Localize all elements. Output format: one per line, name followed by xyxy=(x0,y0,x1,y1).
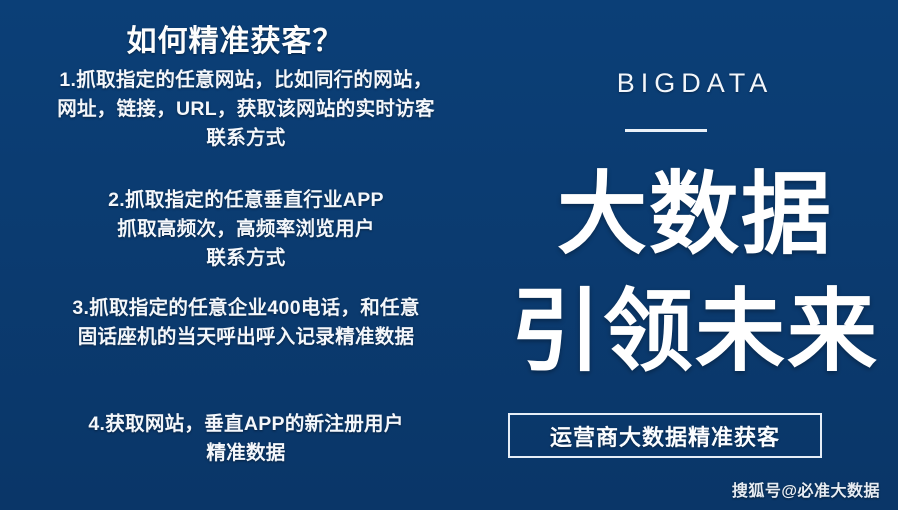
bullet-1-line-2: 网址，链接，URL，获取该网站的实时访客 xyxy=(0,95,492,124)
tagline-label: 运营商大数据精准获客 xyxy=(550,420,780,452)
horizontal-rule-icon xyxy=(625,129,707,132)
left-content-panel: 如何精准获客？ 1.抓取指定的任意网站，比如同行的网站， 网址，链接，URL，获… xyxy=(0,0,492,510)
tagline-box: 运营商大数据精准获客 xyxy=(508,413,822,458)
bullet-4-line-1: 4.获取网站，垂直APP的新注册用户 xyxy=(0,410,492,439)
bullet-2-line-1: 2.抓取指定的任意垂直行业APP xyxy=(0,186,492,215)
list-item: 1.抓取指定的任意网站，比如同行的网站， 网址，链接，URL，获取该网站的实时访… xyxy=(0,66,492,153)
bullet-1-line-3: 联系方式 xyxy=(0,124,492,153)
brand-eyebrow: BIGDATA xyxy=(492,68,898,99)
brand-headline-line-1: 大数据 xyxy=(492,170,898,260)
right-brand-panel: BIGDATA 大数据 引领未来 运营商大数据精准获客 xyxy=(492,0,898,510)
list-item: 4.获取网站，垂直APP的新注册用户 精准数据 xyxy=(0,410,492,468)
bullet-2-line-3: 联系方式 xyxy=(0,244,492,273)
brand-headline-line-2: 引领未来 xyxy=(492,287,898,377)
bullet-3-line-1: 3.抓取指定的任意企业400电话，和任意 xyxy=(0,294,492,323)
poster-canvas: 如何精准获客？ 1.抓取指定的任意网站，比如同行的网站， 网址，链接，URL，获… xyxy=(0,0,898,510)
page-title: 如何精准获客？ xyxy=(0,16,470,60)
list-item: 2.抓取指定的任意垂直行业APP 抓取高频次，高频率浏览用户 联系方式 xyxy=(0,186,492,273)
bullet-2-line-2: 抓取高频次，高频率浏览用户 xyxy=(0,215,492,244)
bullet-1-line-1: 1.抓取指定的任意网站，比如同行的网站， xyxy=(0,66,492,95)
bullet-4-line-2: 精准数据 xyxy=(0,439,492,468)
list-item: 3.抓取指定的任意企业400电话，和任意 固话座机的当天呼出呼入记录精准数据 xyxy=(0,294,492,352)
bullet-3-line-2: 固话座机的当天呼出呼入记录精准数据 xyxy=(0,323,492,352)
watermark: 搜狐号@必准大数据 xyxy=(732,477,880,501)
